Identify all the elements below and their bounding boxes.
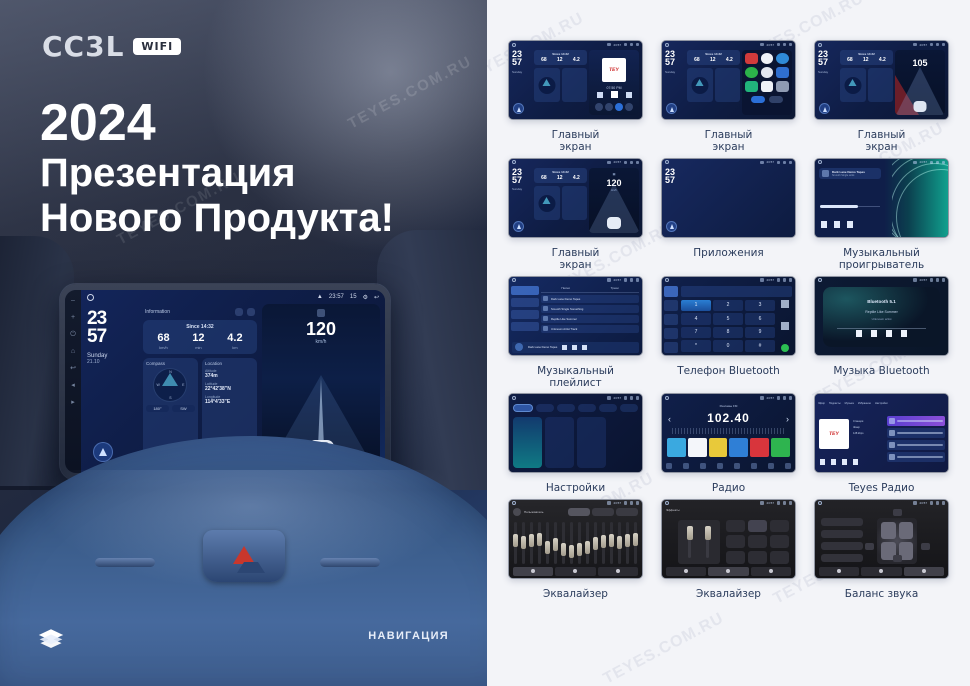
tab-equalizer (513, 567, 553, 576)
grid-cell[interactable]: Эфир Подкасты Музыка Избранное Настройки… (807, 393, 956, 494)
compass-card (687, 68, 713, 102)
clock-minutes: 57 (512, 176, 532, 184)
thumbnail-music-playlist[interactable]: 23:57 ПесниТреки Dark Lane Demo Tapes Sm… (508, 276, 643, 356)
preset-center (821, 542, 863, 550)
balance-up-button (893, 509, 902, 516)
grid-cell[interactable]: 23:57 Рекламы FM 102.40 ‹ › (654, 393, 803, 494)
album-art: TEY (819, 419, 849, 449)
stat-value: 12 (192, 333, 204, 344)
layers-icon (38, 628, 64, 650)
tab-balance (904, 567, 944, 576)
eq-slider (634, 522, 637, 564)
mini-player-bar: Dark Lane Demo Tapes (512, 342, 639, 353)
thumbnail-caption-2: экран (559, 259, 591, 271)
navigation-fab-button (819, 103, 830, 114)
home-icon (512, 278, 516, 282)
preset-button (568, 508, 590, 516)
settings-tabs (513, 404, 638, 412)
seek-icon (666, 463, 672, 469)
thumbnail-caption: Главный (552, 247, 600, 259)
pause-icon (572, 345, 577, 350)
status-time: 23:57 (766, 160, 774, 164)
car-pillar-right (377, 230, 487, 490)
column-header: Песни (561, 286, 570, 290)
stop-icon (831, 459, 836, 465)
list-icon (717, 463, 723, 469)
effect-button (770, 535, 789, 548)
grid-cell[interactable]: 23:57 23 57 Sunday Since 14:32 68124.2 1… (807, 40, 956, 154)
volume-icon (624, 161, 628, 165)
tab-apps (599, 404, 617, 412)
status-time: 23:57 (613, 160, 621, 164)
back-icon (636, 278, 640, 282)
navigation-label: НАВИГАЦИЯ (368, 630, 449, 642)
sidebar-item-dialpad (664, 286, 678, 297)
wifi-icon: ▲ (317, 294, 323, 300)
eq-slider (570, 522, 573, 564)
status-time: 23:57 (613, 396, 621, 400)
track-artist: Smooth Single artist (832, 174, 878, 177)
app-icon (745, 67, 758, 78)
grid-cell[interactable]: 23:57 Эффекты (654, 499, 803, 600)
app-icon (761, 67, 774, 78)
sidebar-item-contacts (664, 300, 678, 311)
wifi-icon (607, 501, 611, 505)
volume-down-icon[interactable]: – (70, 297, 77, 304)
stat-unit: km/h (159, 345, 168, 350)
track-title: Reptile Like Summer (823, 310, 940, 314)
phone-sidebar (664, 286, 678, 356)
latitude-row: Latitude 22°42'38"N (205, 382, 254, 392)
location-card (562, 68, 588, 102)
thumbnail-apps[interactable]: 23:57 23 57 (661, 158, 796, 238)
next-track-icon[interactable]: ▸ (70, 399, 77, 406)
band-icon (700, 463, 706, 469)
thumbnail-settings[interactable]: 23:57 (508, 393, 643, 473)
balance-down-button (893, 555, 902, 562)
sidebar-item-settings (664, 342, 678, 353)
home-icon (512, 43, 516, 47)
app-icon (776, 81, 789, 92)
grid-icon (785, 463, 791, 469)
tab-display (557, 404, 575, 412)
thumbnail-teyes-radio[interactable]: Эфир Подкасты Музыка Избранное Настройки… (814, 393, 949, 473)
compass-south: S (169, 396, 171, 400)
preset-rear (821, 530, 863, 538)
preset-button (771, 438, 790, 457)
setting-card-network (545, 417, 574, 468)
back-icon (789, 501, 793, 505)
eq-slider (610, 522, 613, 564)
thumbnail-radio[interactable]: 23:57 Рекламы FM 102.40 ‹ › (661, 393, 796, 473)
app-icon (761, 81, 774, 92)
wifi-icon (607, 278, 611, 282)
settings-icon (783, 501, 787, 505)
thumbnail-caption: Главный (858, 129, 906, 141)
thumbnail-caption: Приложения (693, 247, 763, 259)
list-item (887, 416, 945, 426)
compass-dial: N E S W (153, 368, 187, 402)
status-time: 23:57 (766, 501, 774, 505)
power-icon[interactable]: ⏻ (70, 331, 77, 338)
home-icon[interactable]: ⌂ (70, 348, 77, 355)
stat-value: 4.2 (726, 57, 733, 63)
phone-number-field (681, 286, 792, 297)
eq-icon (595, 103, 603, 111)
visualizer-graphic (892, 159, 948, 237)
speaker-front-left (881, 522, 896, 540)
tab-sound (536, 404, 554, 412)
balance-presets (821, 518, 863, 566)
eq-slider (602, 522, 605, 564)
grid-cell[interactable]: 23:57 23 57 Sunday Since 14:32 68124.2 (654, 40, 803, 154)
balance-left-button (865, 543, 874, 550)
back-icon (789, 43, 793, 47)
setting-card-wifi (513, 417, 542, 468)
thumbnail-home-media[interactable]: 23:57 23 57 Sunday Since 14:32 68124.2 T… (508, 40, 643, 120)
settings-icon (783, 43, 787, 47)
thumbnail-home-apps[interactable]: 23:57 23 57 Sunday Since 14:32 68124.2 (661, 40, 796, 120)
track-artist: Unknown artist (823, 317, 940, 321)
prev-track-icon (821, 221, 827, 228)
location-card (715, 68, 741, 102)
brand-name: CC3L (42, 30, 124, 63)
settings-icon (783, 278, 787, 282)
eq-slider (538, 522, 541, 564)
grid-cell[interactable]: 23:57 Dark Lane Demo Tapes Smooth Single… (807, 158, 956, 272)
thumbnail-caption-2: экран (865, 141, 897, 153)
stat-value: 68 (541, 57, 547, 63)
stat-unit: min (195, 345, 201, 350)
stat-value: 12 (710, 57, 716, 63)
tune-down-icon: ‹ (668, 414, 671, 424)
equalizer-sliders (678, 520, 720, 564)
status-time: 23:57 (613, 501, 621, 505)
dialpad-key-4: 4 (681, 313, 711, 325)
list-item: Reptile Like Summer (541, 315, 639, 323)
status-time: 23:57 (766, 43, 774, 47)
eq-slider (594, 522, 597, 564)
wifi-icon (760, 396, 764, 400)
thumbnail-caption: Музыкальный (537, 365, 614, 377)
settings-icon[interactable]: ⚙ (363, 294, 368, 301)
stop-icon (886, 330, 892, 337)
navigation-fab-button (513, 221, 524, 232)
grid-cell[interactable]: 23:57 1 2 3 4 5 6 (654, 276, 803, 390)
preset-button (750, 438, 769, 457)
teyes-radio-tabs: Эфир Подкасты Музыка Избранное Настройки (818, 402, 945, 405)
grid-cell[interactable]: 23:57 ПесниТреки Dark Lane Demo Tapes Sm… (501, 276, 650, 390)
progress-bar (820, 206, 880, 207)
preset-custom (821, 554, 863, 562)
column-header: Треки (611, 286, 619, 290)
effect-button (726, 551, 745, 564)
bluetooth-version-label: Bluetooth 5.1 (823, 299, 940, 304)
settings-icon (768, 463, 774, 469)
home-icon (665, 501, 669, 505)
grid-cell[interactable]: 23:57 23 57 (654, 158, 803, 272)
back-icon (942, 43, 946, 47)
back-icon (942, 278, 946, 282)
compass-east: E (182, 383, 184, 387)
longitude-value: 114°4'33"E (205, 399, 254, 405)
balance-right-button (921, 543, 930, 550)
dialpad-key-5: 5 (713, 313, 743, 325)
status-bar: ▲ 23:57 15 ⚙ ↩ (81, 290, 385, 304)
back-icon (789, 278, 793, 282)
speed-value: 120 (262, 320, 380, 338)
clock-minutes: 57 (87, 328, 138, 346)
more-icon (751, 463, 757, 469)
stat-value: 4.2 (573, 57, 580, 63)
stat-unit: km (232, 345, 237, 350)
watermark-text: TEYES.COM.RU (601, 610, 728, 686)
dialpad-key-1: 1 (681, 300, 711, 312)
stat-value: 4.2 (227, 333, 242, 344)
status-time: 23:57 (329, 294, 344, 300)
playlist-sidebar (511, 286, 539, 334)
next-track-icon (847, 221, 853, 228)
clock-day: Sunday (665, 70, 685, 74)
media-time: 07:50 PM (589, 86, 639, 90)
list-item: Dark Lane Demo Tapes (541, 295, 639, 303)
settings-icon (936, 43, 940, 47)
dialpad-key-star: * (681, 340, 711, 352)
thumbnail-equalizer-simple[interactable]: 23:57 Эффекты (661, 499, 796, 579)
hazard-triangle-icon (233, 546, 255, 564)
dialpad-key-hash: # (745, 340, 775, 352)
back-icon (789, 161, 793, 165)
wifi-icon (607, 396, 611, 400)
settings-icon (630, 278, 634, 282)
since-label: Since 14:32 (146, 324, 254, 330)
home-icon (512, 501, 516, 505)
volume-icon (930, 43, 934, 47)
dialpad-key-2: 2 (713, 300, 743, 312)
volume-icon (777, 501, 781, 505)
source-icon (605, 103, 613, 111)
scan-icon (683, 463, 689, 469)
home-icon (818, 43, 822, 47)
thumbnail-home-nav2[interactable]: 23:57 23 57 Sunday Since 14:32 68124.2 ▦… (508, 158, 643, 238)
hero-panel: TEYES.COM.RU TEYES.COM.RU TEYES.COM.RU C… (0, 0, 487, 686)
dialpad-key-7: 7 (681, 327, 711, 339)
altitude-row: Altitude 374m (205, 369, 254, 379)
more-icon (625, 103, 633, 111)
status-time: 23:57 (766, 278, 774, 282)
back-icon (636, 161, 640, 165)
tab-effects (555, 567, 595, 576)
list-item: Smooth Single Something (541, 305, 639, 313)
stat-distance: 4.2 km (227, 333, 242, 350)
grid-cell[interactable]: 23:57 23 57 Sunday Since 14:32 68124.2 ▦… (501, 158, 650, 272)
wifi-icon (760, 161, 764, 165)
settings-icon (936, 501, 940, 505)
thumbnail-sound-balance[interactable]: 23:57 (814, 499, 949, 579)
eq-slider (578, 522, 581, 564)
screenshot-grid-panel: TEYES.COM.RU TEYES.COM.RU TEYES.COM.RU T… (487, 0, 970, 686)
eq-slider (626, 522, 629, 564)
effect-button (748, 551, 767, 564)
setting-card-more (577, 417, 606, 468)
air-vent-right (320, 558, 380, 567)
list-item: Unknown Artist Track (541, 325, 639, 333)
car-icon (914, 101, 927, 112)
back-icon (789, 396, 793, 400)
brand-logo: CC3L WIFI (42, 30, 181, 63)
grid-cell[interactable]: 23:57 (807, 499, 956, 600)
thumbnail-caption: Телефон Bluetooth (677, 365, 780, 377)
thumbnail-bluetooth-music[interactable]: 23:57 Bluetooth 5.1 Reptile Like Summer … (814, 276, 949, 356)
compass-direction: SW (172, 405, 195, 412)
sidebar-item-recents (664, 328, 678, 339)
sidebar-item-search (664, 314, 678, 325)
thumbnail-caption: Эквалайзер (543, 588, 608, 600)
thumbnail-caption: Главный (552, 129, 600, 141)
tab-music: Музыка (845, 402, 854, 405)
thumbnail-caption: Настройки (546, 482, 605, 494)
grid-cell[interactable]: 23:57 Нас (501, 393, 650, 494)
settings-icon (936, 278, 940, 282)
stat-value: 68 (157, 333, 169, 344)
wifi-icon (760, 43, 764, 47)
compass-needle (162, 373, 178, 386)
wifi-icon (760, 278, 764, 282)
volume-icon (624, 396, 628, 400)
page-dot (751, 96, 765, 103)
station-name: Станция (853, 420, 881, 423)
prev-track-icon[interactable]: ◂ (70, 382, 77, 389)
compass-label: Compass (146, 361, 195, 366)
presentation-page: TEYES.COM.RU TEYES.COM.RU TEYES.COM.RU C… (0, 0, 970, 686)
thumbnail-caption: Главный (705, 129, 753, 141)
volume-up-icon[interactable]: + (70, 314, 77, 321)
grid-cell[interactable]: 23:57 Bluetooth 5.1 Reptile Like Summer … (807, 276, 956, 390)
compass-west: W (156, 383, 159, 387)
volume-icon (930, 278, 934, 282)
effect-button (726, 535, 745, 548)
back-icon (942, 501, 946, 505)
thumbnail-equalizer-bands[interactable]: 23:57 Пользователь (508, 499, 643, 579)
clock-day: Sunday (512, 187, 532, 191)
thumbnail-caption: Радио (712, 482, 745, 494)
clock-minutes: 57 (512, 58, 532, 66)
stop-icon (611, 91, 618, 98)
tab-wifi (513, 404, 533, 412)
home-icon (818, 501, 822, 505)
dialpad: 1 2 3 4 5 6 7 8 9 * 0 # (681, 300, 775, 352)
grid-cell[interactable]: 23:57 23 57 Sunday Since 14:32 68124.2 T… (501, 40, 650, 154)
list-item (887, 440, 945, 450)
stat-duration: 12 min (192, 333, 204, 350)
hardware-button-rail[interactable]: – + ⏻ ⌂ ↩ ◂ ▸ (65, 290, 81, 473)
location-card (562, 186, 588, 220)
since-label: Since 14:32 (536, 52, 585, 56)
settings-icon (783, 161, 787, 165)
frequency-scale (672, 428, 785, 434)
home-icon[interactable] (87, 294, 94, 301)
tune-up-icon: › (786, 414, 789, 424)
wifi-icon (607, 161, 611, 165)
thumbnail-caption: Музыкальный (843, 247, 920, 259)
eq-slider (546, 522, 549, 564)
since-label: Since 14:32 (536, 170, 585, 174)
location-label: Location (205, 361, 254, 366)
volume-icon (624, 501, 628, 505)
hazard-button[interactable] (203, 530, 285, 582)
expand-icon[interactable] (247, 308, 255, 316)
page-dot (769, 96, 783, 103)
list-item (887, 428, 945, 438)
sidebar-item-artists (511, 322, 539, 331)
dialpad-key-9: 9 (745, 327, 775, 339)
back-icon[interactable]: ↩ (374, 294, 379, 301)
eq-slider (562, 522, 565, 564)
information-label: Information (145, 309, 170, 315)
back-button (666, 221, 677, 232)
effect-button (748, 520, 767, 533)
tab-balance (751, 567, 791, 576)
dialpad-key-8: 8 (713, 327, 743, 339)
home-icon (512, 160, 516, 164)
preset-button (729, 438, 748, 457)
volume-icon (930, 501, 934, 505)
eq-slider (522, 522, 525, 564)
back-icon[interactable]: ↩ (70, 365, 77, 372)
location-card (868, 68, 894, 102)
call-icon (781, 344, 789, 352)
back-icon (636, 501, 640, 505)
avatar (513, 508, 521, 516)
eq-preset-name: Пользователь (524, 510, 543, 514)
stat-value: 4.2 (879, 57, 886, 63)
eq-slider (586, 522, 589, 564)
grid-cell[interactable]: 23:57 Пользователь (501, 499, 650, 600)
thumbnail-bluetooth-phone[interactable]: 23:57 1 2 3 4 5 6 (661, 276, 796, 356)
air-vent-left (95, 558, 155, 567)
settings-icon (630, 161, 634, 165)
compass-north: N (169, 370, 172, 374)
home-icon (665, 396, 669, 400)
wifi-icon (913, 501, 917, 505)
home-icon (665, 278, 669, 282)
next-track-icon (901, 330, 907, 337)
stat-value: 4.2 (573, 175, 580, 181)
setting-card-empty (609, 417, 638, 468)
page-title: 2024 Презентация Нового Продукта! (40, 96, 394, 241)
tab-balance (598, 567, 638, 576)
information-header: Information (143, 308, 257, 316)
sidebar-item-tracks (511, 286, 539, 295)
refresh-icon[interactable] (235, 308, 243, 316)
clock-minutes: 57 (818, 58, 838, 66)
radio-band-label: Рекламы FM (662, 404, 795, 408)
preset-button (688, 438, 707, 457)
thumbnail-music-player[interactable]: 23:57 Dark Lane Demo Tapes Smooth Single… (814, 158, 949, 238)
eq-section-title: Эффекты (666, 508, 680, 512)
compass-card (534, 68, 560, 102)
effect-buttons (726, 520, 789, 564)
dialpad-key-6: 6 (745, 313, 775, 325)
effect-button (770, 520, 789, 533)
status-time: 23:57 (919, 43, 927, 47)
back-icon (636, 43, 640, 47)
thumbnail-home-nav[interactable]: 23:57 23 57 Sunday Since 14:32 68124.2 1… (814, 40, 949, 120)
prev-track-icon (562, 345, 567, 350)
volume-icon (777, 43, 781, 47)
clock-minutes: 57 (665, 58, 685, 66)
thumbnail-caption: Баланс звука (845, 588, 919, 600)
